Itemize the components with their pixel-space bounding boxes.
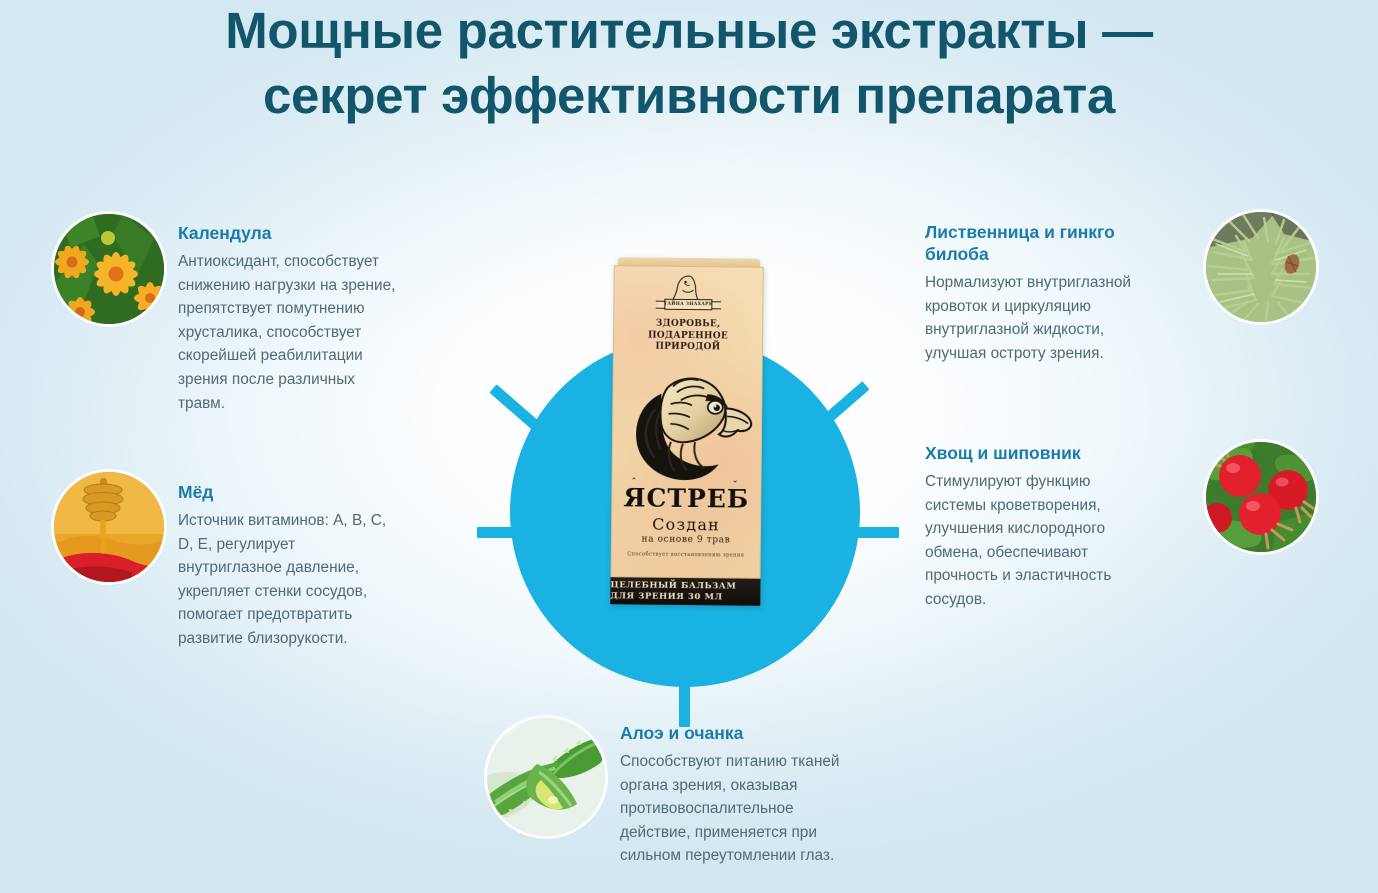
info-item-calendula: Календула Антиоксидант, способствует сни… [178,222,448,415]
info-item-title: Мёд [178,481,448,503]
info-item-text: Источник витаминов: A, B, C, D, E, регул… [178,509,448,651]
info-item-title: Алоэ и очанка [620,722,910,744]
info-item-aloe-eyebright: Алоэ и очанка Способствуют питанию ткане… [620,722,910,868]
herbalist-crest-icon: ТАЙНА ЗНАХАРЯ [658,273,718,314]
bird-silhouette-right-icon: ⌄ [732,476,739,484]
info-item-text: Антиоксидант, способствует снижению нагр… [178,250,448,415]
larch-needles-icon [1206,212,1316,322]
info-item-title: Хвощ и шиповник [925,442,1200,464]
aloe-leaves-icon [487,718,605,836]
eagle-illustration-icon: ⌃ ⌄ [620,357,753,488]
product-created-sublabel: на основе 9 трав [612,534,760,546]
info-item-text: Нормализуют внутриглазной кровоток и цир… [925,271,1200,365]
honey-dipper-icon [54,472,164,582]
thumb-aloe-eyebright [487,718,605,836]
info-item-text: Стимулируют функцию системы кроветворени… [925,470,1200,612]
page-title: Мощные растительные экстракты — секрет э… [0,0,1378,128]
info-item-horsetail-rosehip: Хвощ и шиповник Стимулируют функцию сист… [925,442,1200,612]
package-bottom-band: ЦЕЛЕБНЫЙ БАЛЬЗАМ ДЛЯ ЗРЕНИЯ 30 МЛ [610,577,760,606]
info-item-text: Способствуют питанию тканей органа зрени… [620,750,910,868]
product-created-label: Создан [612,514,760,535]
package-tagline: ЗДОРОВЬЕ, ПОДАРЕННОЕ ПРИРОДОЙ [614,318,762,354]
product-package: ТАЙНА ЗНАХАРЯ ЗДОРОВЬЕ, ПОДАРЕННОЕ ПРИРО… [610,257,764,614]
package-front-face: ТАЙНА ЗНАХАРЯ ЗДОРОВЬЕ, ПОДАРЕННОЕ ПРИРО… [611,265,764,579]
info-item-honey: Мёд Источник витаминов: A, B, C, D, E, р… [178,481,448,651]
info-item-title: Календула [178,222,448,244]
crest-ribbon: ТАЙНА ЗНАХАРЯ [655,299,721,311]
bird-silhouette-left-icon: ⌃ [630,477,637,485]
calendula-flower-icon [54,214,164,324]
thumb-horsetail-rosehip [1206,442,1316,552]
thumb-honey [54,472,164,582]
thumb-larch-ginkgo [1206,212,1316,322]
info-item-title: Лиственница и гинкго билоба [925,221,1200,265]
info-item-larch-ginkgo: Лиственница и гинкго билоба Нормализуют … [925,221,1200,365]
thumb-calendula [54,214,164,324]
product-fine-print: Способствует восстановлению зрения [612,551,760,559]
rosehip-berries-icon [1206,442,1316,552]
ribbon-label: ТАЙНА ЗНАХАРЯ [655,299,721,311]
